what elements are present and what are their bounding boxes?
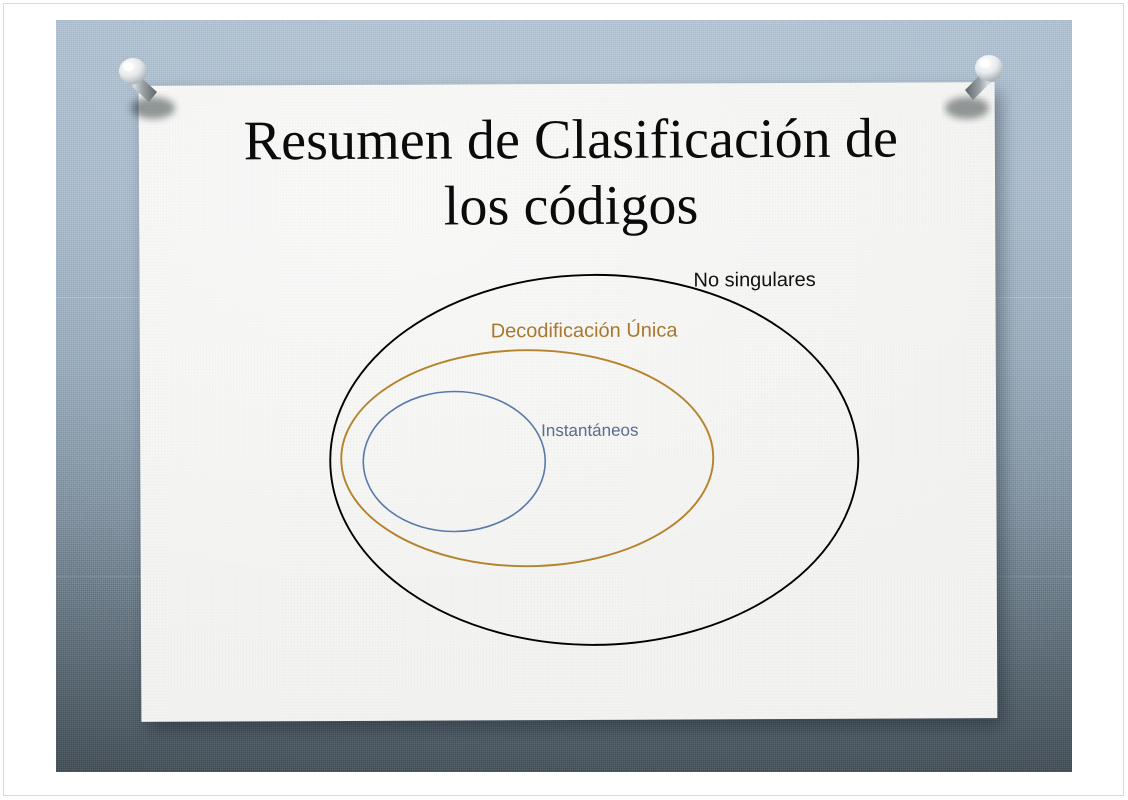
slide-sheet: Resumen de Clasificación de los códigos …: [139, 82, 998, 722]
label-instantaneos: Instantáneos: [541, 421, 638, 441]
label-no-singulares: No singulares: [693, 269, 815, 293]
pushpin-highlight: [980, 59, 991, 68]
venn-diagram: [139, 82, 998, 722]
pushpin-icon: [941, 50, 1015, 132]
page-frame: Resumen de Clasificación de los códigos …: [0, 0, 1128, 800]
pushpin-head: [975, 55, 1003, 81]
pushpin-shadow: [945, 97, 989, 119]
ellipse-instantaneos: [363, 391, 546, 532]
pushpin-icon: [113, 52, 187, 134]
pushpin-head: [119, 58, 147, 84]
label-decodificacion-unica: Decodificación Única: [491, 320, 678, 344]
ellipse-decodificacion-unica: [341, 349, 714, 567]
pushpin-highlight: [123, 62, 134, 71]
pushpin-shadow: [131, 97, 175, 119]
